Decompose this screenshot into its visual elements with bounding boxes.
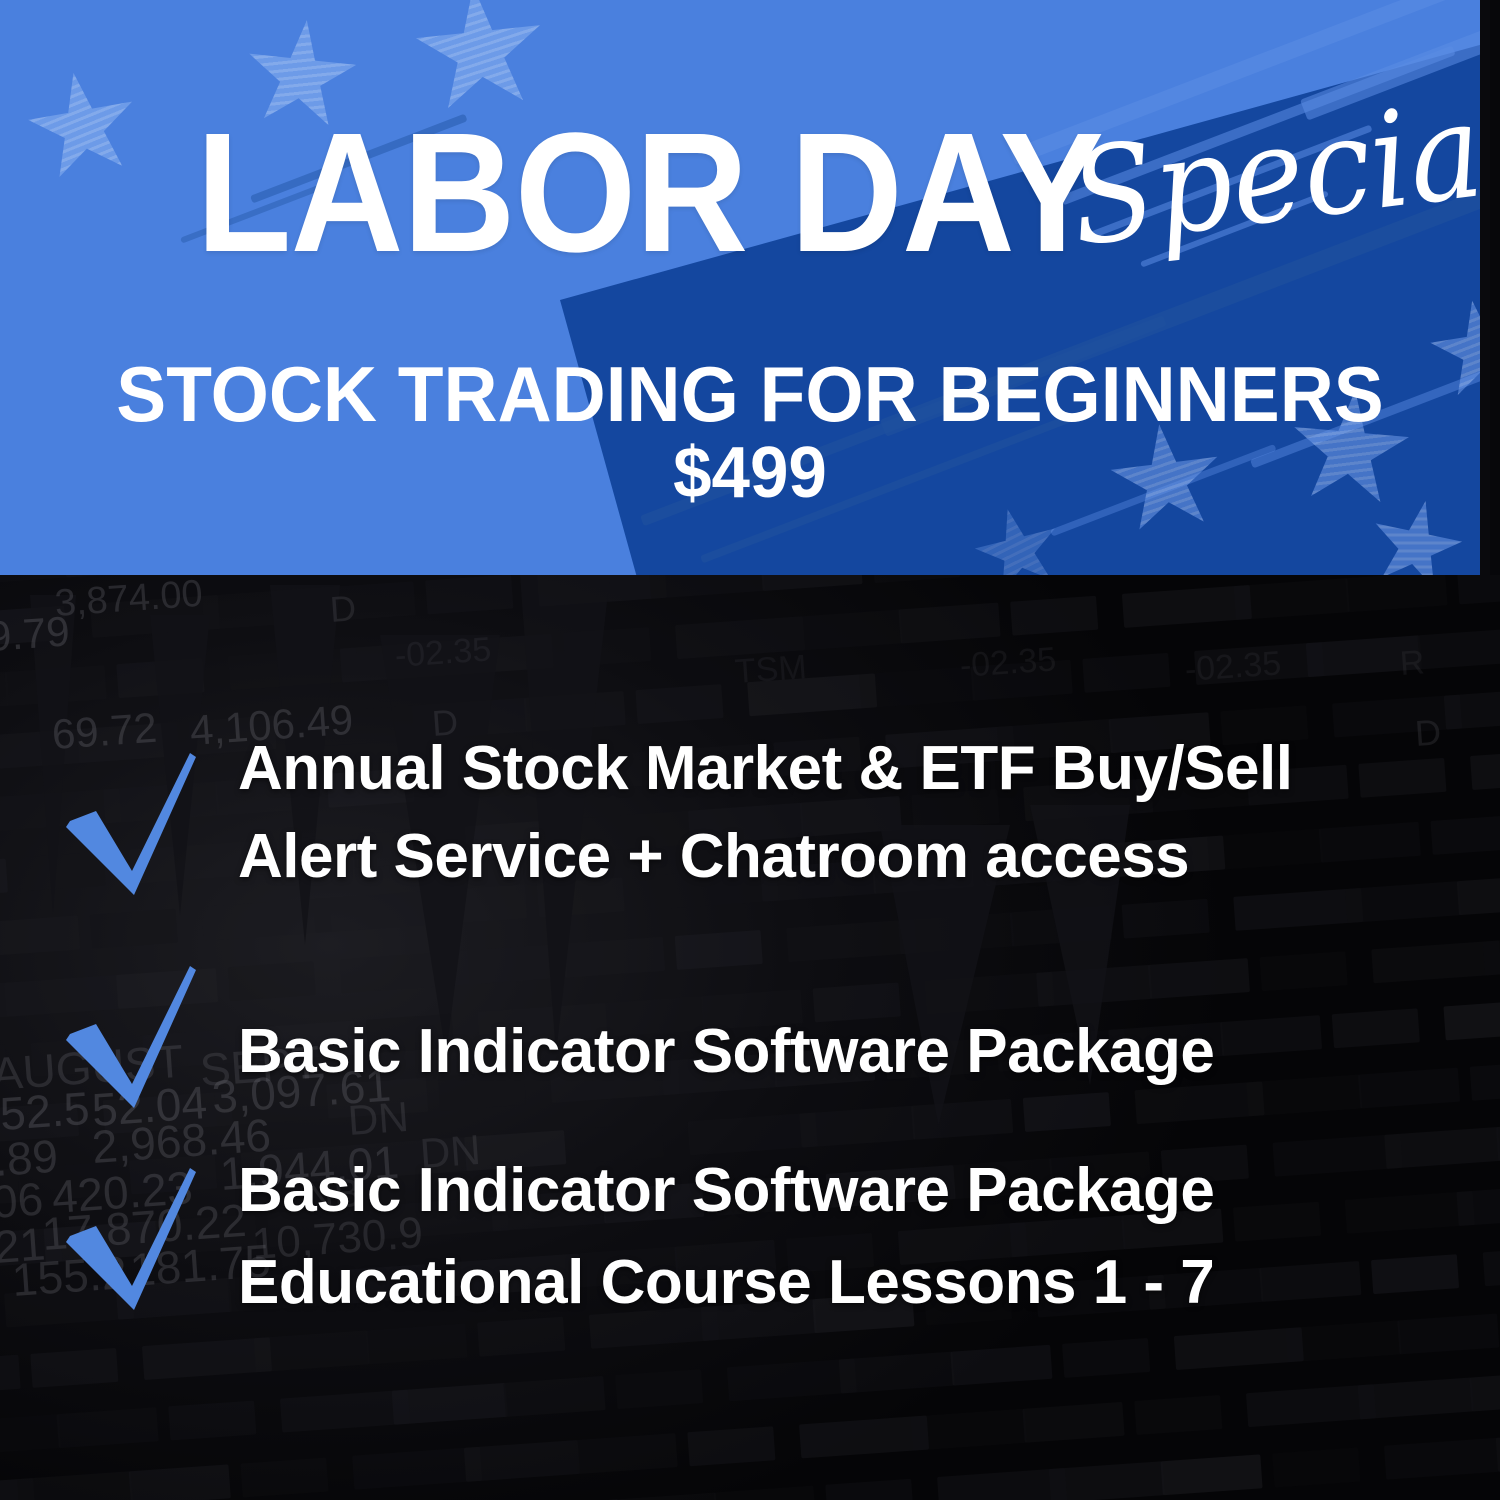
list-item-line-1: Basic Indicator Software Package [238, 1145, 1214, 1237]
list-item-line-2: Educational Course Lessons 1 - 7 [238, 1237, 1214, 1329]
list-item-line-1: Basic Indicator Software Package [238, 1008, 1214, 1096]
title-script-accent: Specials [1064, 72, 1490, 266]
list-item-line-2: Alert Service + Chatroom access [238, 813, 1292, 901]
list-item-label: Basic Indicator Software Package [238, 1008, 1214, 1096]
page-title: LABOR DAY [196, 108, 1103, 278]
features-section: 3,874.009.79D-02.35TSM-02.35-02.35R69.72… [0, 575, 1500, 1500]
check-icon [62, 747, 202, 897]
labor-day-banner: LABOR DAY Specials STOCK TRADING FOR BEG… [0, 0, 1490, 575]
banner-edge-sliver [1480, 0, 1490, 575]
banner-subtitle: STOCK TRADING FOR BEGINNERS [30, 353, 1470, 435]
check-icon [62, 1162, 202, 1312]
banner-title-row: LABOR DAY Specials [0, 108, 1490, 298]
price-label: $499 [30, 435, 1470, 511]
list-item-label: Basic Indicator Software Package Educati… [238, 1145, 1214, 1329]
promotional-poster: LABOR DAY Specials STOCK TRADING FOR BEG… [0, 0, 1500, 1500]
list-item-label: Annual Stock Market & ETF Buy/Sell Alert… [238, 725, 1292, 901]
list-item-line-1: Annual Stock Market & ETF Buy/Sell [238, 725, 1292, 813]
feature-list: Annual Stock Market & ETF Buy/Sell Alert… [0, 575, 1500, 1500]
check-icon [62, 960, 202, 1110]
